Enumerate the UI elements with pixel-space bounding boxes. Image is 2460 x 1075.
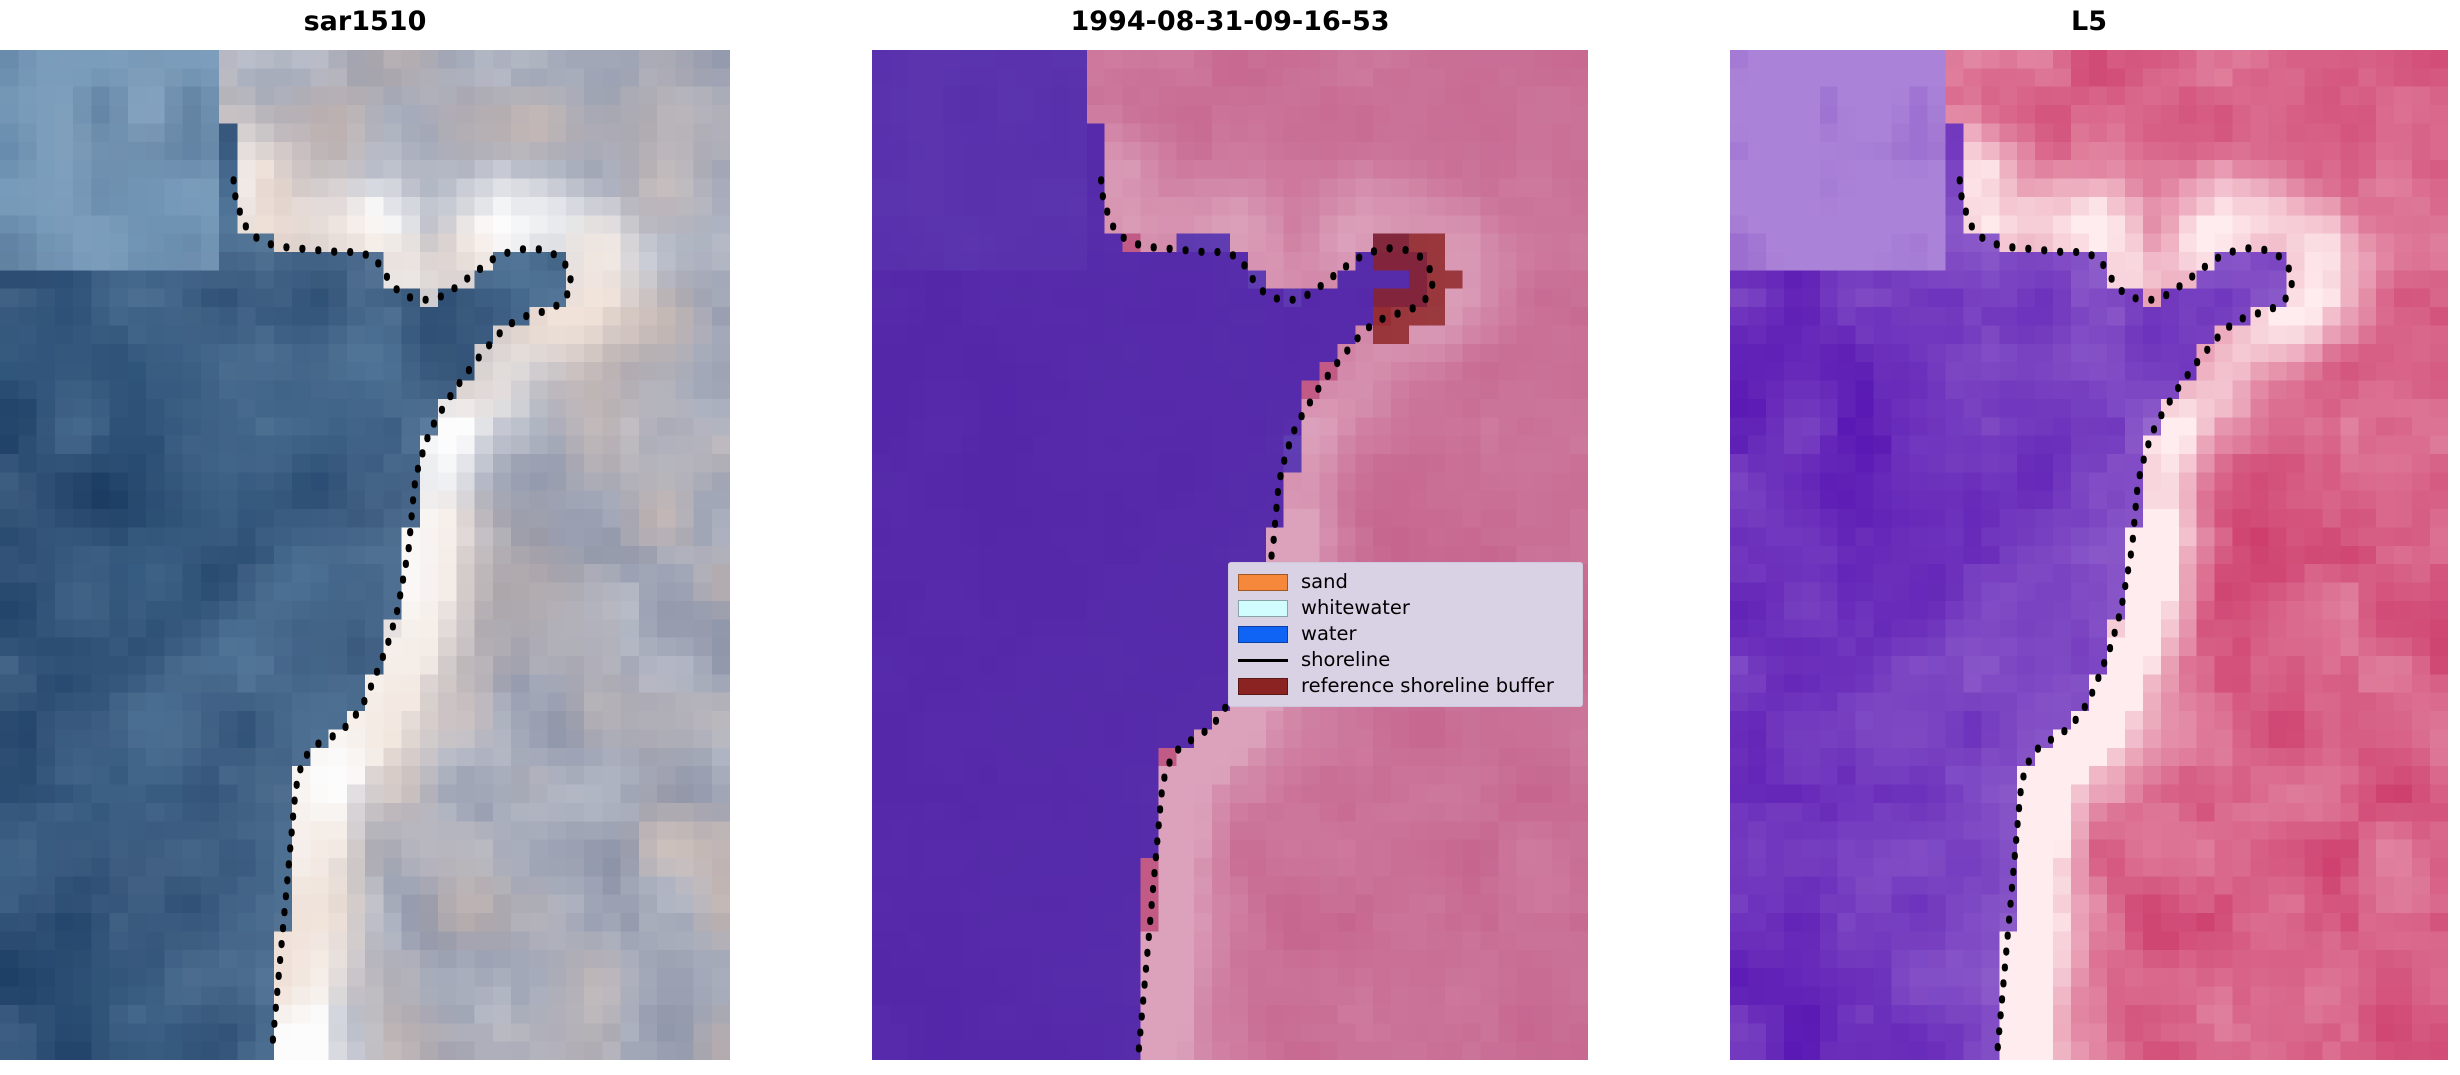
panel-title-sar1510: sar1510 — [0, 4, 730, 44]
legend-item-water: water — [1238, 621, 1573, 647]
legend-item-shoreline: shoreline — [1238, 647, 1573, 673]
figure-root: sar1510 1994-08-31-09-16-53 L5 sand whit… — [0, 0, 2460, 1075]
image-panel-l5 — [1730, 50, 2448, 1060]
legend-box: sand whitewater water shoreline referenc… — [1228, 562, 1583, 707]
legend-item-whitewater: whitewater — [1238, 595, 1573, 621]
legend-item-reference-shoreline-buffer: reference shoreline buffer — [1238, 673, 1573, 699]
legend-label-reference-shoreline-buffer: reference shoreline buffer — [1301, 673, 1554, 699]
panel-title-timestamp: 1994-08-31-09-16-53 — [872, 4, 1588, 44]
shoreline-overlay — [0, 50, 730, 1060]
image-panel-sar1510 — [0, 50, 730, 1060]
legend-label-sand: sand — [1301, 569, 1348, 595]
panel-title-l5: L5 — [1730, 4, 2448, 44]
water-swatch-icon — [1238, 626, 1288, 643]
whitewater-swatch-icon — [1238, 600, 1288, 617]
legend-item-sand: sand — [1238, 569, 1573, 595]
legend-label-shoreline: shoreline — [1301, 647, 1390, 673]
shoreline-overlay — [1730, 50, 2448, 1060]
legend-label-water: water — [1301, 621, 1357, 647]
sand-swatch-icon — [1238, 574, 1288, 591]
shoreline-overlay — [872, 50, 1588, 1060]
shoreline-line-icon — [1238, 659, 1288, 662]
reference-shoreline-buffer-swatch-icon — [1238, 678, 1288, 695]
legend-label-whitewater: whitewater — [1301, 595, 1410, 621]
image-panel-classification — [872, 50, 1588, 1060]
